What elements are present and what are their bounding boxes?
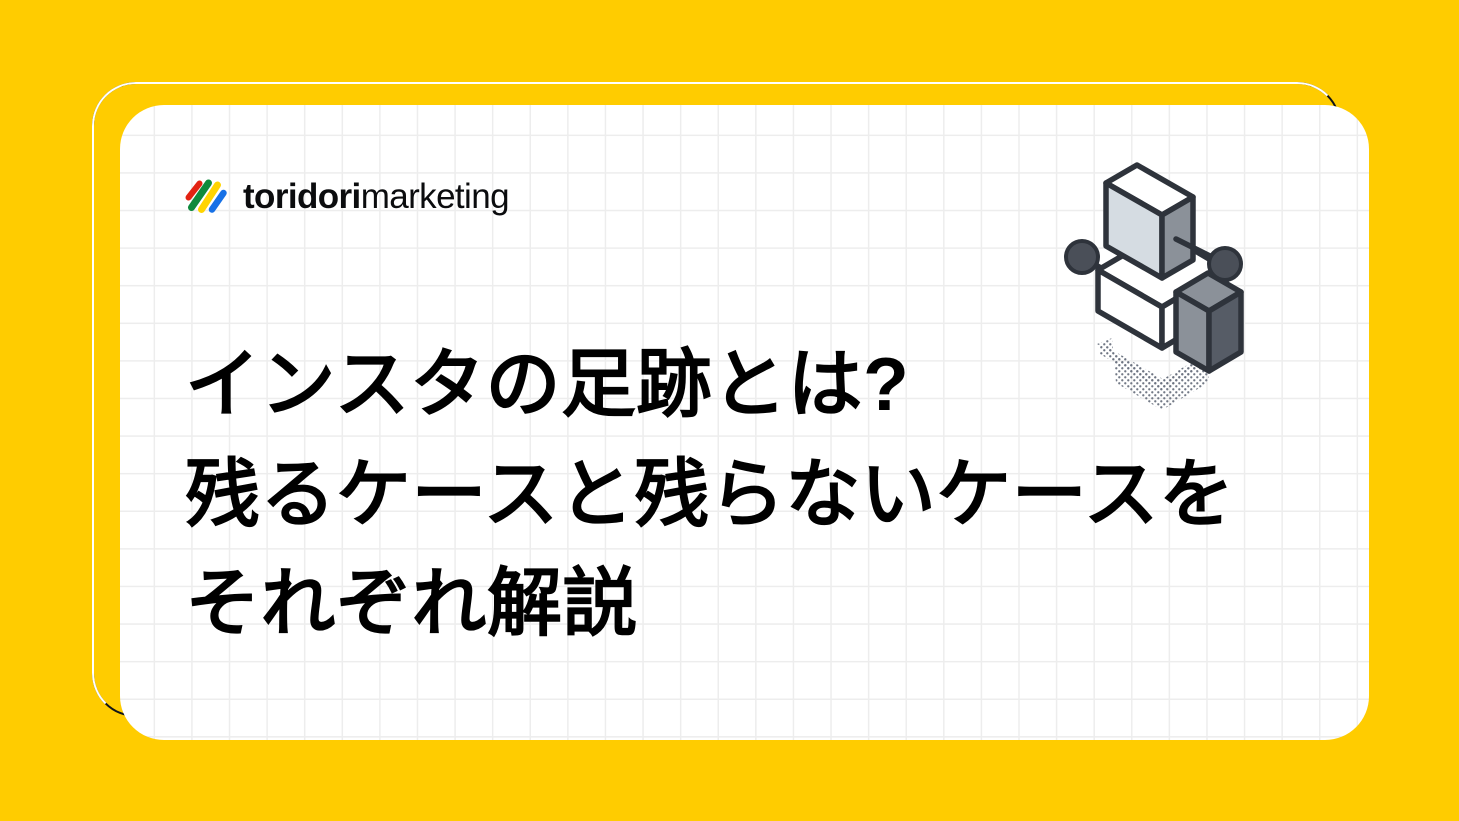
brand-lockup: toridorimarketing (183, 176, 509, 216)
node-circle-right (1209, 248, 1241, 280)
node-circle-left (1066, 241, 1098, 273)
thumbnail-canvas: toridorimarketing インスタの足跡とは? 残るケースと残らないケ… (0, 0, 1459, 821)
headline-line-3: それぞれ解説 (185, 549, 1275, 659)
isometric-boxes-illustration (1058, 148, 1273, 413)
lower-box-cap (1176, 273, 1241, 371)
brand-name-bold: toridori (243, 177, 361, 216)
brand-wordmark: toridorimarketing (243, 179, 509, 214)
brand-name-light: marketing (361, 177, 509, 216)
toridori-logo-mark (183, 176, 229, 216)
headline-line-2: 残るケースと残らないケースを (185, 440, 1275, 550)
